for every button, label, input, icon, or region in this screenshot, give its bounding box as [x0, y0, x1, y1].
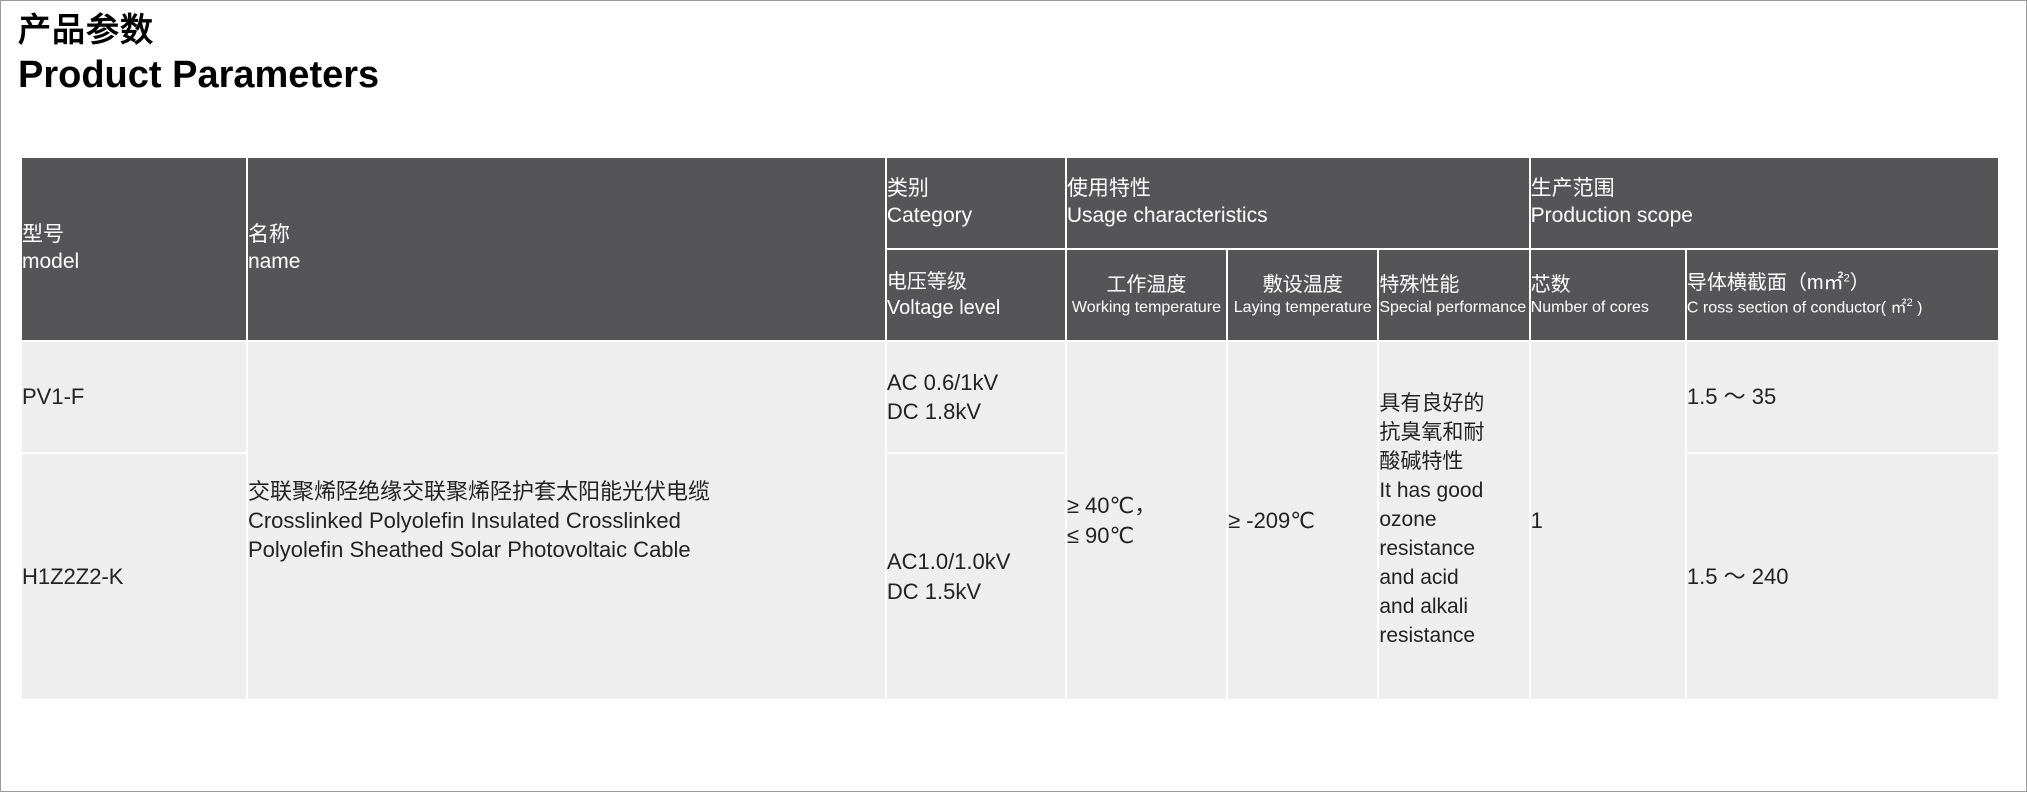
cell-name-en-line1: Crosslinked Polyolefin Insulated Crossli…: [248, 506, 885, 535]
cell-voltage-row2-line2: DC 1.5kV: [887, 577, 1065, 606]
cell-special-cn-line3: 酸碱特性: [1379, 448, 1528, 477]
header-voltage-en: Voltage level: [887, 295, 1065, 321]
cell-model-row1-text: PV1-F: [22, 382, 246, 411]
header-model-cn: 型号: [22, 222, 246, 249]
header-cores-en: Number of cores: [1531, 298, 1685, 319]
cell-special-en-line6: resistance: [1379, 622, 1528, 651]
product-parameters-table: 型号 model 名称 name 类别 Category 使用特性 Usage …: [20, 156, 2000, 701]
cell-special-en-line5: and alkali: [1379, 593, 1528, 622]
cell-cores-text: 1: [1531, 506, 1685, 535]
cell-model-row2-text: H1Z2Z2-K: [22, 562, 246, 591]
cell-working-temp-line1: ≥ 40℃，: [1067, 491, 1226, 520]
page-title-en: Product Parameters: [18, 52, 379, 100]
cell-laying-temp-text: ≥ -209℃: [1228, 506, 1377, 535]
header-voltage-level: 电压等级 Voltage level: [887, 250, 1065, 340]
header-voltage-cn: 电压等级: [887, 269, 1065, 295]
cell-special-en-line2: ozone: [1379, 506, 1528, 535]
cell-special-performance-merged: 具有良好的 抗臭氧和耐 酸碱特性 It has good ozone resis…: [1379, 342, 1528, 699]
header-name-en: name: [248, 249, 885, 276]
header-production-en: Production scope: [1531, 203, 1998, 230]
header-cross-section-cn-close: ）: [1850, 272, 1870, 294]
header-laying-temperature: 敷设温度 Laying temperature: [1228, 250, 1377, 340]
header-special-performance: 特殊性能 Special performance: [1379, 250, 1528, 340]
header-production-scope: 生产范围 Production scope: [1531, 158, 1998, 248]
cell-voltage-row2: AC1.0/1.0kV DC 1.5kV: [887, 454, 1065, 699]
header-laying-temp-cn: 敷设温度: [1228, 272, 1377, 298]
page-title-cn: 产品参数: [18, 9, 379, 50]
cell-special-en-line1: It has good: [1379, 477, 1528, 506]
cell-voltage-row1: AC 0.6/1kV DC 1.8kV: [887, 342, 1065, 452]
header-usage-characteristics: 使用特性 Usage characteristics: [1067, 158, 1529, 248]
header-cross-section-cn: 导体横截面（m㎡2）: [1687, 270, 1998, 296]
header-model: 型号 model: [22, 158, 246, 340]
cell-model-row1: PV1-F: [22, 342, 246, 452]
cell-special-cn-line2: 抗臭氧和耐: [1379, 419, 1528, 448]
header-working-temp-cn: 工作温度: [1067, 272, 1226, 298]
header-cross-section-en-text: C ross section of conductor( ㎡: [1687, 300, 1907, 317]
header-laying-temp-en: Laying temperature: [1228, 298, 1377, 319]
header-cross-section-en-close: ): [1913, 300, 1923, 317]
header-cores-cn: 芯数: [1531, 272, 1685, 298]
header-cross-section: 导体横截面（m㎡2） C ross section of conductor( …: [1687, 250, 1998, 340]
cell-cross-section-row1: 1.5 ～ 35: [1687, 342, 1998, 452]
header-category-cn: 类别: [887, 176, 1065, 203]
header-model-en: model: [22, 249, 246, 276]
header-working-temperature: 工作温度 Working temperature: [1067, 250, 1226, 340]
cell-laying-temperature-merged: ≥ -209℃: [1228, 342, 1377, 699]
header-usage-en: Usage characteristics: [1067, 203, 1529, 230]
header-cross-section-cn-text: 导体横截面（m㎡: [1687, 272, 1844, 294]
cell-working-temperature-merged: ≥ 40℃， ≤ 90℃: [1067, 342, 1226, 699]
cell-cross-section-row2: 1.5 ～ 240: [1687, 454, 1998, 699]
cell-number-of-cores-merged: 1: [1531, 342, 1685, 699]
cell-special-en-line4: and acid: [1379, 564, 1528, 593]
product-parameters-page: 产品参数 Product Parameters 型号 model 名称 name: [0, 0, 2027, 792]
cell-name-en-line2: Polyolefin Sheathed Solar Photovoltaic C…: [248, 535, 885, 564]
cell-special-en-line3: resistance: [1379, 535, 1528, 564]
header-special-cn: 特殊性能: [1379, 272, 1528, 298]
header-special-en: Special performance: [1379, 298, 1528, 319]
header-production-cn: 生产范围: [1531, 176, 1998, 203]
header-category-en: Category: [887, 203, 1065, 230]
cell-voltage-row2-line1: AC1.0/1.0kV: [887, 547, 1065, 576]
table-row: PV1-F 交联聚烯陉绝缘交联聚烯陉护套太阳能光伏电缆 Crosslinked …: [22, 342, 1998, 452]
header-name-cn: 名称: [248, 222, 885, 249]
header-working-temp-en: Working temperature: [1067, 298, 1226, 319]
cell-model-row2: H1Z2Z2-K: [22, 454, 246, 699]
table-header-row-top: 型号 model 名称 name 类别 Category 使用特性 Usage …: [22, 158, 1998, 248]
cell-working-temp-line2: ≤ 90℃: [1067, 521, 1226, 550]
cell-cross-section-row1-text: 1.5 ～ 35: [1687, 382, 1998, 411]
header-usage-cn: 使用特性: [1067, 176, 1529, 203]
cell-voltage-row1-line2: DC 1.8kV: [887, 397, 1065, 426]
header-number-of-cores: 芯数 Number of cores: [1531, 250, 1685, 340]
cell-voltage-row1-line1: AC 0.6/1kV: [887, 368, 1065, 397]
page-title: 产品参数 Product Parameters: [18, 9, 379, 100]
cell-name-cn: 交联聚烯陉绝缘交联聚烯陉护套太阳能光伏电缆: [248, 477, 885, 506]
cell-name-merged: 交联聚烯陉绝缘交联聚烯陉护套太阳能光伏电缆 Crosslinked Polyol…: [248, 342, 885, 699]
cell-special-cn-line1: 具有良好的: [1379, 390, 1528, 419]
header-category: 类别 Category: [887, 158, 1065, 248]
header-name: 名称 name: [248, 158, 885, 340]
cell-cross-section-row2-text: 1.5 ～ 240: [1687, 562, 1998, 591]
header-cross-section-en: C ross section of conductor( ㎡2 ): [1687, 296, 1998, 319]
